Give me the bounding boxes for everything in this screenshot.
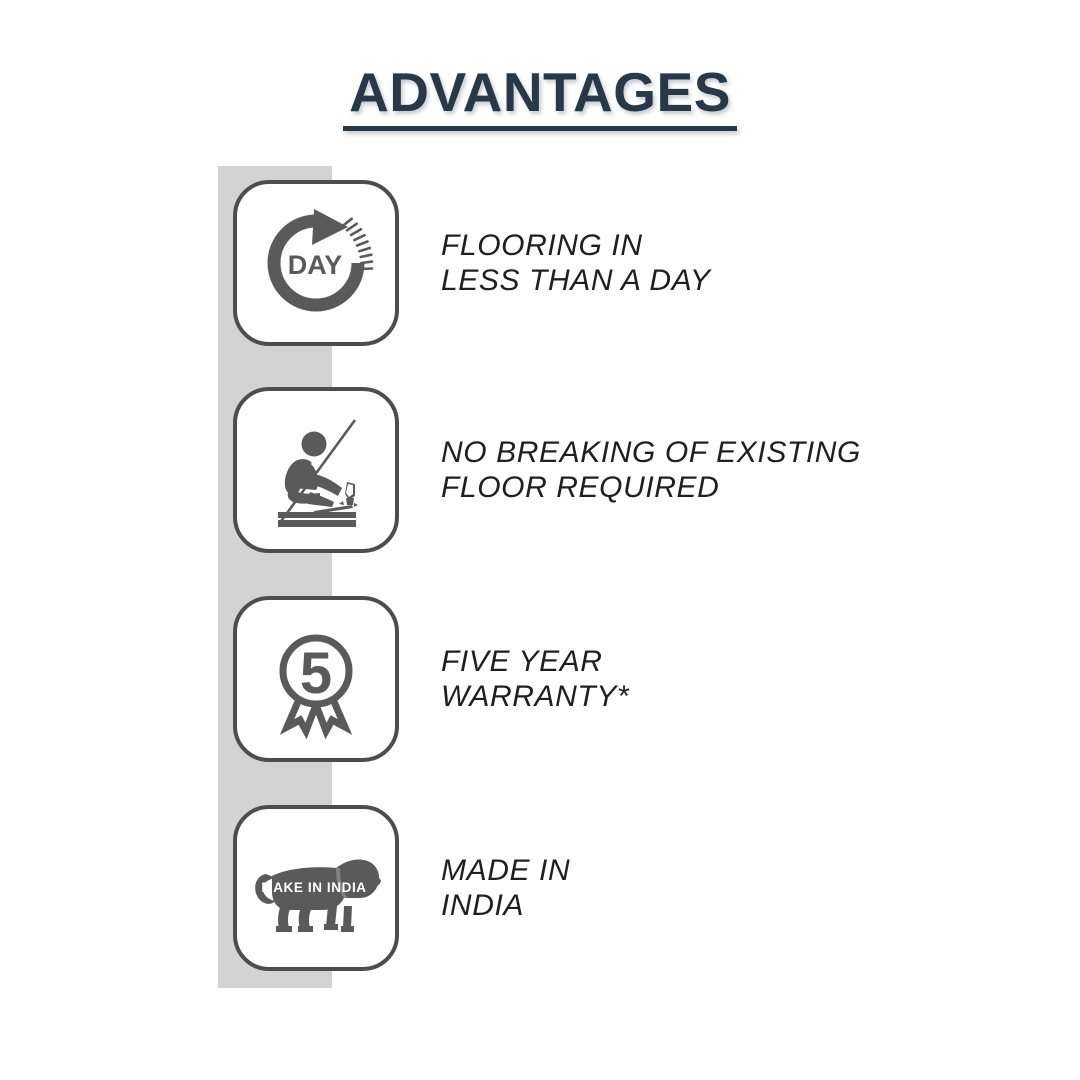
advantage-label: FIVE YEAR WARRANTY* [441, 644, 629, 715]
advantage-label: NO BREAKING OF EXISTING FLOOR REQUIRED [441, 435, 861, 506]
day-clock-arrow-icon: DAY [256, 203, 376, 323]
warranty-years-number: 5 [300, 641, 332, 706]
advantage-label: MADE IN INDIA [441, 853, 570, 924]
advantage-icon-box [233, 387, 399, 553]
advantage-item-made-in-india: MAKE IN INDIA MADE IN INDIA [233, 803, 933, 973]
advantage-item-no-breaking: NO BREAKING OF EXISTING FLOOR REQUIRED [233, 385, 933, 555]
day-icon-label: DAY [288, 250, 343, 280]
advantage-item-warranty: 5 FIVE YEAR WARRANTY* [233, 594, 933, 764]
five-year-award-ribbon-icon: 5 [256, 619, 376, 739]
advantage-icon-box: MAKE IN INDIA [233, 805, 399, 971]
advantage-label: FLOORING IN LESS THAN A DAY [441, 228, 711, 299]
advantage-icon-box: 5 [233, 596, 399, 762]
make-in-india-wordmark: MAKE IN INDIA [261, 880, 366, 895]
advantages-list: DAY FLOORING IN LESS THAN A DAY [0, 0, 1080, 1080]
no-floor-breaking-icon [254, 408, 378, 532]
advantage-icon-box: DAY [233, 180, 399, 346]
make-in-india-lion-icon: MAKE IN INDIA [248, 840, 384, 936]
advantage-item-flooring-in-a-day: DAY FLOORING IN LESS THAN A DAY [233, 178, 933, 348]
